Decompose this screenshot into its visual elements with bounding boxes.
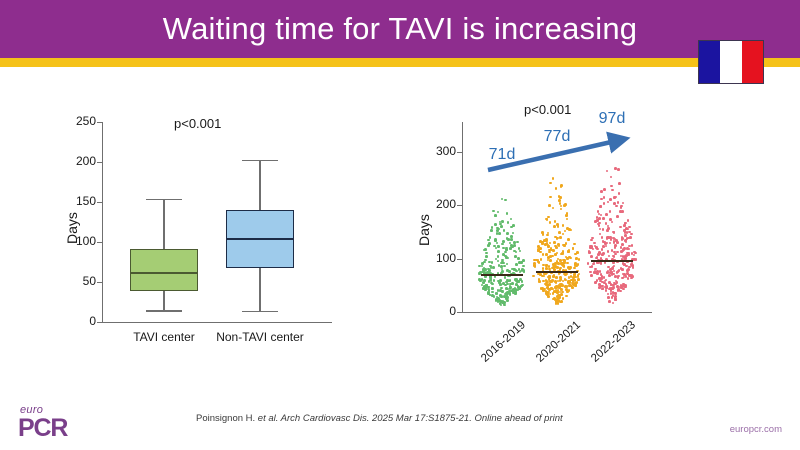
dot-plot-point <box>606 170 609 173</box>
dot-plot-point <box>609 210 612 213</box>
dot-plot-point <box>614 253 617 256</box>
dot-plot-median-bar <box>591 260 633 262</box>
box-plot-y-tick-label: 100 <box>56 234 96 248</box>
box-plot-whisker-cap <box>242 160 278 162</box>
box-plot-x-category-label: Non-TAVI center <box>200 330 320 344</box>
dot-plot-point <box>621 268 624 271</box>
dot-plot-point <box>609 198 612 201</box>
dot-plot-point <box>599 228 602 231</box>
dot-plot-point <box>621 277 624 280</box>
dot-plot-point <box>632 266 635 269</box>
dot-plot-point <box>622 288 625 291</box>
box-plot-y-tick <box>97 242 102 243</box>
box-plot-median-line <box>130 272 198 274</box>
dot-plot-point <box>605 289 608 292</box>
dot-plot-point <box>605 213 608 216</box>
dot-plot-point <box>593 271 596 274</box>
box-plot-y-tick <box>97 122 102 123</box>
dot-plot-point <box>616 285 619 288</box>
dot-plot-point <box>590 255 593 258</box>
flag-band-red <box>742 41 763 83</box>
dot-plot-point <box>605 245 608 248</box>
box-plot-y-tick-label: 150 <box>56 194 96 208</box>
dot-plot-point <box>607 250 610 253</box>
dot-plot-point <box>603 196 606 199</box>
dot-plot-point <box>627 277 630 280</box>
dot-plot-point <box>598 283 601 286</box>
dot-plot-point <box>612 287 615 290</box>
dot-plot-point <box>611 189 614 192</box>
dot-plot-point <box>614 298 617 301</box>
box-plot-whisker-cap <box>242 311 278 313</box>
dot-plot-point <box>610 185 613 188</box>
dot-plot-point <box>600 214 603 217</box>
citation-author: Poinsignon H. <box>196 413 255 424</box>
dot-plot-point <box>601 236 604 239</box>
dot-plot-point <box>623 224 626 227</box>
dot-plot-swarm <box>410 100 690 380</box>
dot-plot-point <box>607 227 610 230</box>
dot-plot-point <box>630 233 633 236</box>
dot-plot-point <box>619 226 622 229</box>
dot-plot-point <box>611 296 614 299</box>
box-plot-y-tick <box>97 322 102 323</box>
dot-plot-point <box>594 281 597 284</box>
box-plot-box <box>130 249 198 291</box>
dot-plot-point <box>619 210 622 213</box>
dot-plot-point <box>614 246 617 249</box>
flag-band-blue <box>699 41 720 83</box>
dot-plot-point <box>597 253 600 256</box>
dot-plot-point <box>622 262 625 265</box>
dot-plot-point <box>628 226 631 229</box>
dot-plot-point <box>614 292 617 295</box>
dot-plot-point <box>589 246 592 249</box>
dot-plot-median-value-label: 97d <box>582 110 642 128</box>
dot-plot-point <box>618 182 621 185</box>
dot-plot-point <box>622 248 625 251</box>
dot-plot-point <box>611 221 614 224</box>
dot-plot-point <box>610 176 613 179</box>
dot-plot-point <box>606 271 609 274</box>
dot-plot-point <box>626 247 629 250</box>
dot-plot-point <box>595 257 598 260</box>
dot-plot-point <box>628 231 631 234</box>
box-plot-chart: p<0.001 Days 050100150200250TAVI centerN… <box>60 100 360 360</box>
dot-plot-point <box>625 241 628 244</box>
dot-plot-point <box>616 215 619 218</box>
dot-plot-point <box>596 248 599 251</box>
box-plot-y-tick-label: 200 <box>56 154 96 168</box>
site-url: europcr.com <box>730 424 782 435</box>
box-plot-y-tick <box>97 282 102 283</box>
dot-plot-point <box>634 252 637 255</box>
dot-plot-point <box>628 266 631 269</box>
box-plot-y-tick <box>97 162 102 163</box>
dot-plot-point <box>598 217 601 220</box>
dot-plot-point <box>608 255 611 258</box>
box-plot-y-tick <box>97 202 102 203</box>
dot-plot-point <box>590 274 593 277</box>
dot-plot-point <box>587 262 590 265</box>
dot-plot-point <box>621 238 624 241</box>
dot-plot-point <box>607 296 610 299</box>
dot-plot-point <box>599 233 602 236</box>
box-plot-whisker-cap <box>146 199 182 201</box>
dot-plot-point <box>613 265 616 268</box>
dot-plot-point <box>609 242 612 245</box>
dot-plot-point <box>593 242 596 245</box>
box-plot-pvalue: p<0.001 <box>174 116 221 131</box>
dot-plot-point <box>624 234 627 237</box>
dot-plot-point <box>601 248 604 251</box>
dot-plot-point <box>607 266 610 269</box>
citation-text: Poinsignon H. et al. Arch Cardiovasc Dis… <box>196 413 563 424</box>
dot-plot-point <box>625 254 628 257</box>
dot-plot-point <box>600 273 603 276</box>
citation-reference: et al. Arch Cardiovasc Dis. 2025 Mar 17:… <box>255 413 563 424</box>
dot-plot-point <box>617 168 620 171</box>
dot-plot-point <box>614 283 617 286</box>
dot-plot-point <box>602 245 605 248</box>
dot-plot-point <box>631 244 634 247</box>
header-accent-rule <box>0 58 800 67</box>
box-plot-x-axis <box>102 322 332 323</box>
dot-plot-point <box>600 190 603 193</box>
box-plot-y-tick-label: 50 <box>56 274 96 288</box>
dot-plot-point <box>618 192 621 195</box>
dot-plot-point <box>591 265 594 268</box>
dot-plot-point <box>608 300 611 303</box>
dot-plot-point <box>627 219 630 222</box>
dot-plot-point <box>612 231 615 234</box>
dot-plot-point <box>603 188 606 191</box>
dot-plot-point <box>599 205 602 208</box>
dot-plot-point <box>630 263 633 266</box>
box-plot-y-tick-label: 0 <box>56 314 96 328</box>
dot-plot-chart: p<0.001 Days 010020030071d2016-201977d20… <box>410 100 690 380</box>
dot-plot-point <box>612 302 615 305</box>
logo-pcr-text: PCR <box>18 415 67 441</box>
dot-plot-point <box>621 243 624 246</box>
box-plot-median-line <box>226 238 294 240</box>
dot-plot-point <box>631 275 634 278</box>
dot-plot-point <box>607 201 610 204</box>
france-flag-icon <box>698 40 764 84</box>
dot-plot-point <box>615 205 618 208</box>
dot-plot-point <box>591 237 594 240</box>
page-title: Waiting time for TAVI is increasing <box>0 7 800 51</box>
dot-plot-point <box>590 239 593 242</box>
dot-plot-point <box>624 222 627 225</box>
dot-plot-point <box>602 217 605 220</box>
europcr-logo: euro PCR <box>18 404 90 444</box>
box-plot-y-tick-label: 250 <box>56 114 96 128</box>
dot-plot-point <box>627 268 630 271</box>
dot-plot-point <box>603 202 606 205</box>
flag-band-white <box>720 41 741 83</box>
dot-plot-point <box>615 239 618 242</box>
box-plot-whisker-cap <box>146 310 182 312</box>
dot-plot-point <box>598 277 601 280</box>
dot-plot-point <box>602 228 605 231</box>
dot-plot-point <box>615 196 618 199</box>
dot-plot-point <box>616 271 619 274</box>
dot-plot-point <box>617 276 620 279</box>
box-plot-y-axis <box>102 122 103 322</box>
dot-plot-point <box>617 201 620 204</box>
